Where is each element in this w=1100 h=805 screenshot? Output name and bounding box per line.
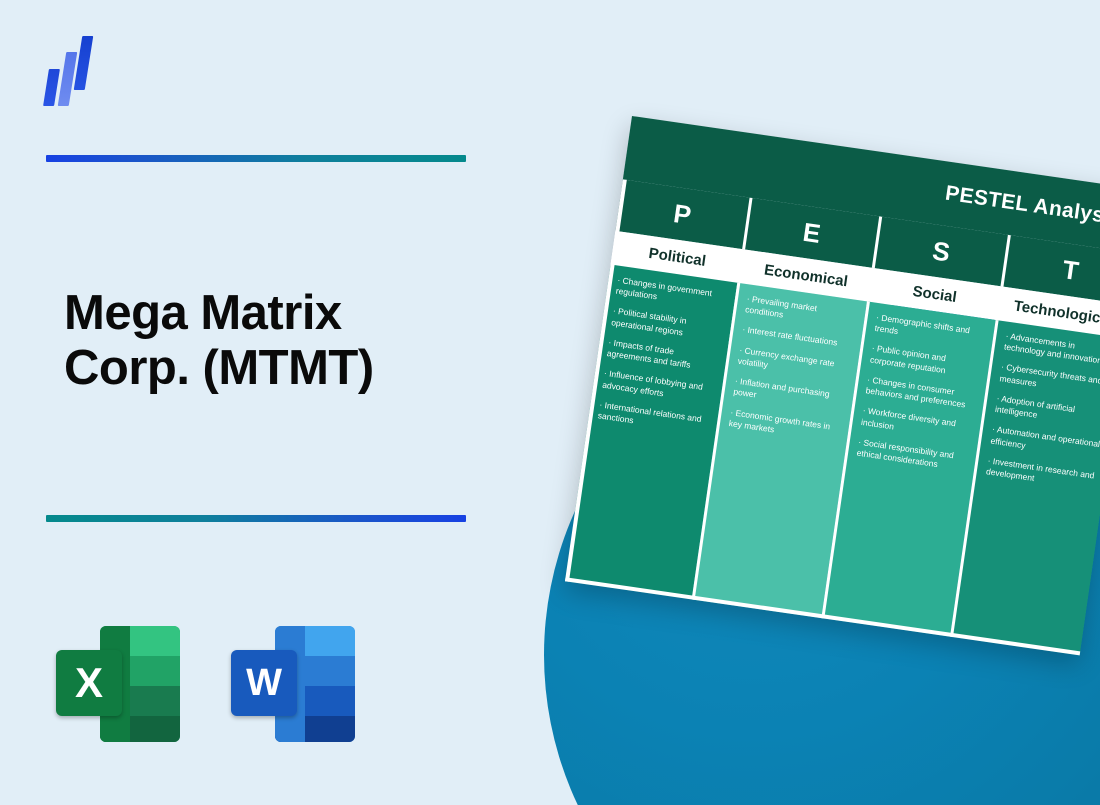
- pestel-bullet: · Cybersecurity threats and measures: [999, 362, 1100, 400]
- pestel-bullet: · Political stability in operational reg…: [611, 306, 724, 344]
- word-icon[interactable]: W: [231, 622, 355, 746]
- company-logo: [45, 36, 101, 106]
- pestel-bullet: · Demographic shifts and trends: [874, 312, 987, 350]
- divider-top: [46, 155, 466, 162]
- poster-canvas: Mega Matrix Corp. (MTMT) X W: [0, 0, 1100, 805]
- pestel-bullet: · Social responsibility and ethical cons…: [856, 436, 969, 474]
- excel-badge-letter: X: [56, 650, 122, 716]
- divider-bottom: [46, 515, 466, 522]
- pestel-board-title: PESTEL Analysis: [944, 182, 1100, 231]
- pestel-bullet: · Workforce diversity and inclusion: [860, 405, 973, 443]
- pestel-bullet: · Automation and operational efficiency: [990, 424, 1100, 462]
- pestel-board: PESTEL Analysis P E S T Political Econom…: [565, 116, 1100, 655]
- pestel-bullet: · Influence of lobbying and advocacy eff…: [602, 368, 715, 406]
- logo-bar-1: [43, 69, 60, 106]
- excel-icon[interactable]: X: [56, 622, 180, 746]
- logo-bar-3: [74, 36, 94, 90]
- pestel-bullet: · Prevailing market conditions: [744, 293, 857, 331]
- page-title: Mega Matrix Corp. (MTMT): [64, 286, 464, 397]
- pestel-bullet: · Inflation and purchasing power: [733, 376, 846, 414]
- pestel-bullet: · Changes in government regulations: [615, 275, 728, 313]
- pestel-bullet: · International relations and sanctions: [597, 399, 710, 437]
- pestel-bullet: · Adoption of artificial intelligence: [994, 393, 1100, 431]
- pestel-bullet: · Impacts of trade agreements and tariff…: [606, 337, 719, 375]
- pestel-bullet: · Investment in research and development: [985, 455, 1098, 493]
- pestel-bullet: · Advancements in technology and innovat…: [1003, 331, 1100, 369]
- word-badge-letter: W: [231, 650, 297, 716]
- pestel-bullet: · Public opinion and corporate reputatio…: [869, 343, 982, 381]
- pestel-bullet: · Changes in consumer behaviors and pref…: [865, 374, 978, 412]
- pestel-bullet: · Currency exchange rate volatility: [737, 344, 850, 382]
- pestel-bullet: · Economic growth rates in key markets: [728, 407, 841, 445]
- office-icons: X W: [56, 622, 355, 746]
